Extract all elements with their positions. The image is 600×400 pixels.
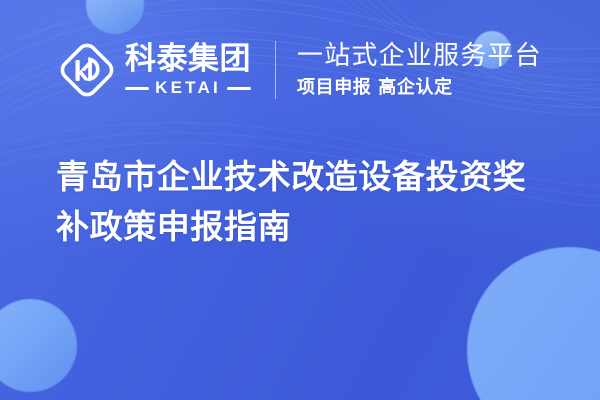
promo-banner: 科泰集团 KETAI 一站式企业服务平台 项目申报 高企认定 青岛市企业技术改造… (0, 0, 600, 400)
brand-name-en: KETAI (155, 78, 221, 98)
brand-name-cn: 科泰集团 (125, 43, 251, 75)
wordmark-rule-right (227, 87, 251, 90)
brand-wordmark: 科泰集团 KETAI (125, 42, 251, 98)
page-title: 青岛市企业技术改造设备投资奖补政策申报指南 (56, 152, 548, 252)
tagline-secondary: 项目申报 高企认定 (297, 76, 542, 99)
header-tagline: 一站式企业服务平台 项目申报 高企认定 (297, 41, 542, 99)
ketai-kd-monogram-icon (58, 41, 116, 99)
brand-logo[interactable]: 科泰集团 KETAI (58, 41, 251, 99)
header-divider (275, 41, 276, 99)
wordmark-rule-left (125, 87, 149, 90)
tagline-primary: 一站式企业服务平台 (297, 41, 542, 72)
banner-header: 科泰集团 KETAI 一站式企业服务平台 项目申报 高企认定 (0, 0, 600, 140)
brand-name-en-row: KETAI (125, 78, 251, 98)
